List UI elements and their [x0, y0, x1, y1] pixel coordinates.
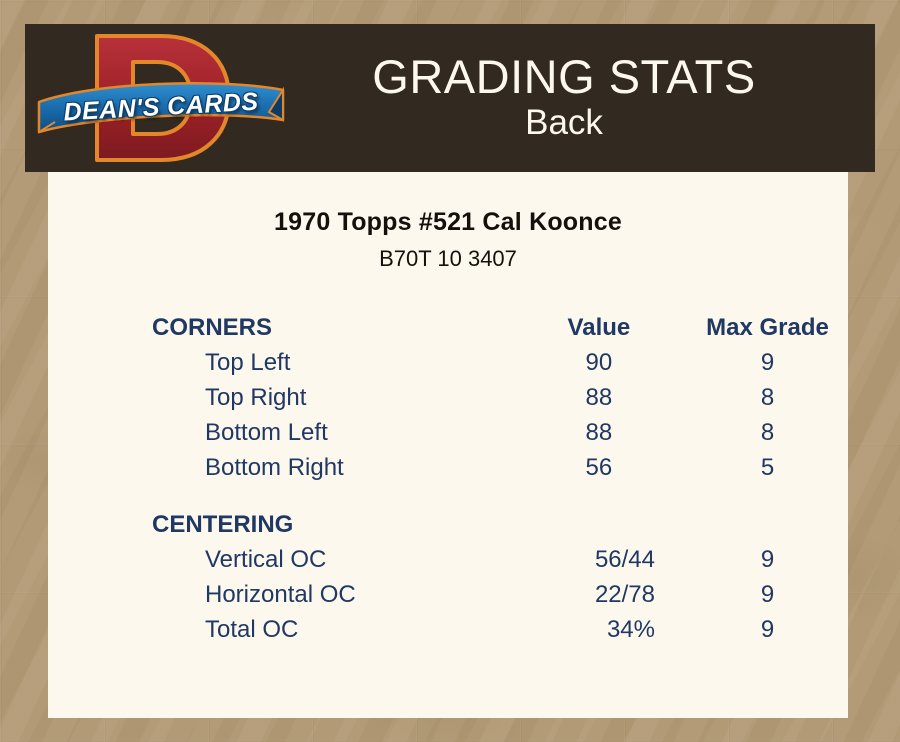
grading-stats-page: DEAN'S CARDS GRADING STATS Back 1970 Top… [0, 0, 900, 742]
row-max-grade: 9 [687, 612, 848, 647]
section-label-centering: CENTERING [48, 485, 511, 542]
row-label: Top Right [48, 380, 511, 415]
page-title: GRADING STATS [293, 52, 835, 102]
table-row: Vertical OC 56/44 9 [48, 542, 848, 577]
row-value: 88 [511, 415, 687, 450]
row-max-grade: 9 [687, 542, 848, 577]
row-value: 56 [511, 450, 687, 485]
row-label: Top Left [48, 345, 511, 380]
row-max-grade: 9 [687, 577, 848, 612]
row-label: Horizontal OC [48, 577, 511, 612]
section-spacer-grade [687, 485, 848, 542]
card-serial: B70T 10 3407 [48, 246, 848, 272]
table-section-header-corners: CORNERS Value Max Grade [48, 306, 848, 345]
row-label: Vertical OC [48, 542, 511, 577]
row-value: 22/78 [511, 577, 687, 612]
row-value: 34% [511, 612, 687, 647]
deans-cards-logo: DEAN'S CARDS [25, 24, 293, 172]
row-value: 90 [511, 345, 687, 380]
section-label-corners: CORNERS [48, 306, 511, 345]
table-row: Horizontal OC 22/78 9 [48, 577, 848, 612]
section-spacer-value [511, 485, 687, 542]
row-value: 56/44 [511, 542, 687, 577]
grading-stats-table: CORNERS Value Max Grade Top Left 90 9 To… [48, 306, 848, 647]
table-section-header-centering: CENTERING [48, 485, 848, 542]
header-band: DEAN'S CARDS GRADING STATS Back [25, 24, 875, 172]
stats-panel: 1970 Topps #521 Cal Koonce B70T 10 3407 … [48, 172, 848, 718]
row-max-grade: 5 [687, 450, 848, 485]
row-label: Total OC [48, 612, 511, 647]
row-max-grade: 8 [687, 415, 848, 450]
grading-stats-body: CORNERS Value Max Grade Top Left 90 9 To… [48, 306, 848, 647]
card-title: 1970 Topps #521 Cal Koonce [48, 208, 848, 237]
table-row: Total OC 34% 9 [48, 612, 848, 647]
header-titles: GRADING STATS Back [293, 52, 875, 143]
row-value: 88 [511, 380, 687, 415]
column-header-max-grade: Max Grade [687, 306, 848, 345]
row-label: Bottom Right [48, 450, 511, 485]
row-max-grade: 8 [687, 380, 848, 415]
page-subtitle: Back [293, 102, 835, 143]
column-header-value: Value [511, 306, 687, 345]
table-row: Top Left 90 9 [48, 345, 848, 380]
row-max-grade: 9 [687, 345, 848, 380]
table-row: Bottom Right 56 5 [48, 450, 848, 485]
row-label: Bottom Left [48, 415, 511, 450]
table-row: Top Right 88 8 [48, 380, 848, 415]
logo-ribbon-banner: DEAN'S CARDS [35, 76, 287, 138]
table-row: Bottom Left 88 8 [48, 415, 848, 450]
